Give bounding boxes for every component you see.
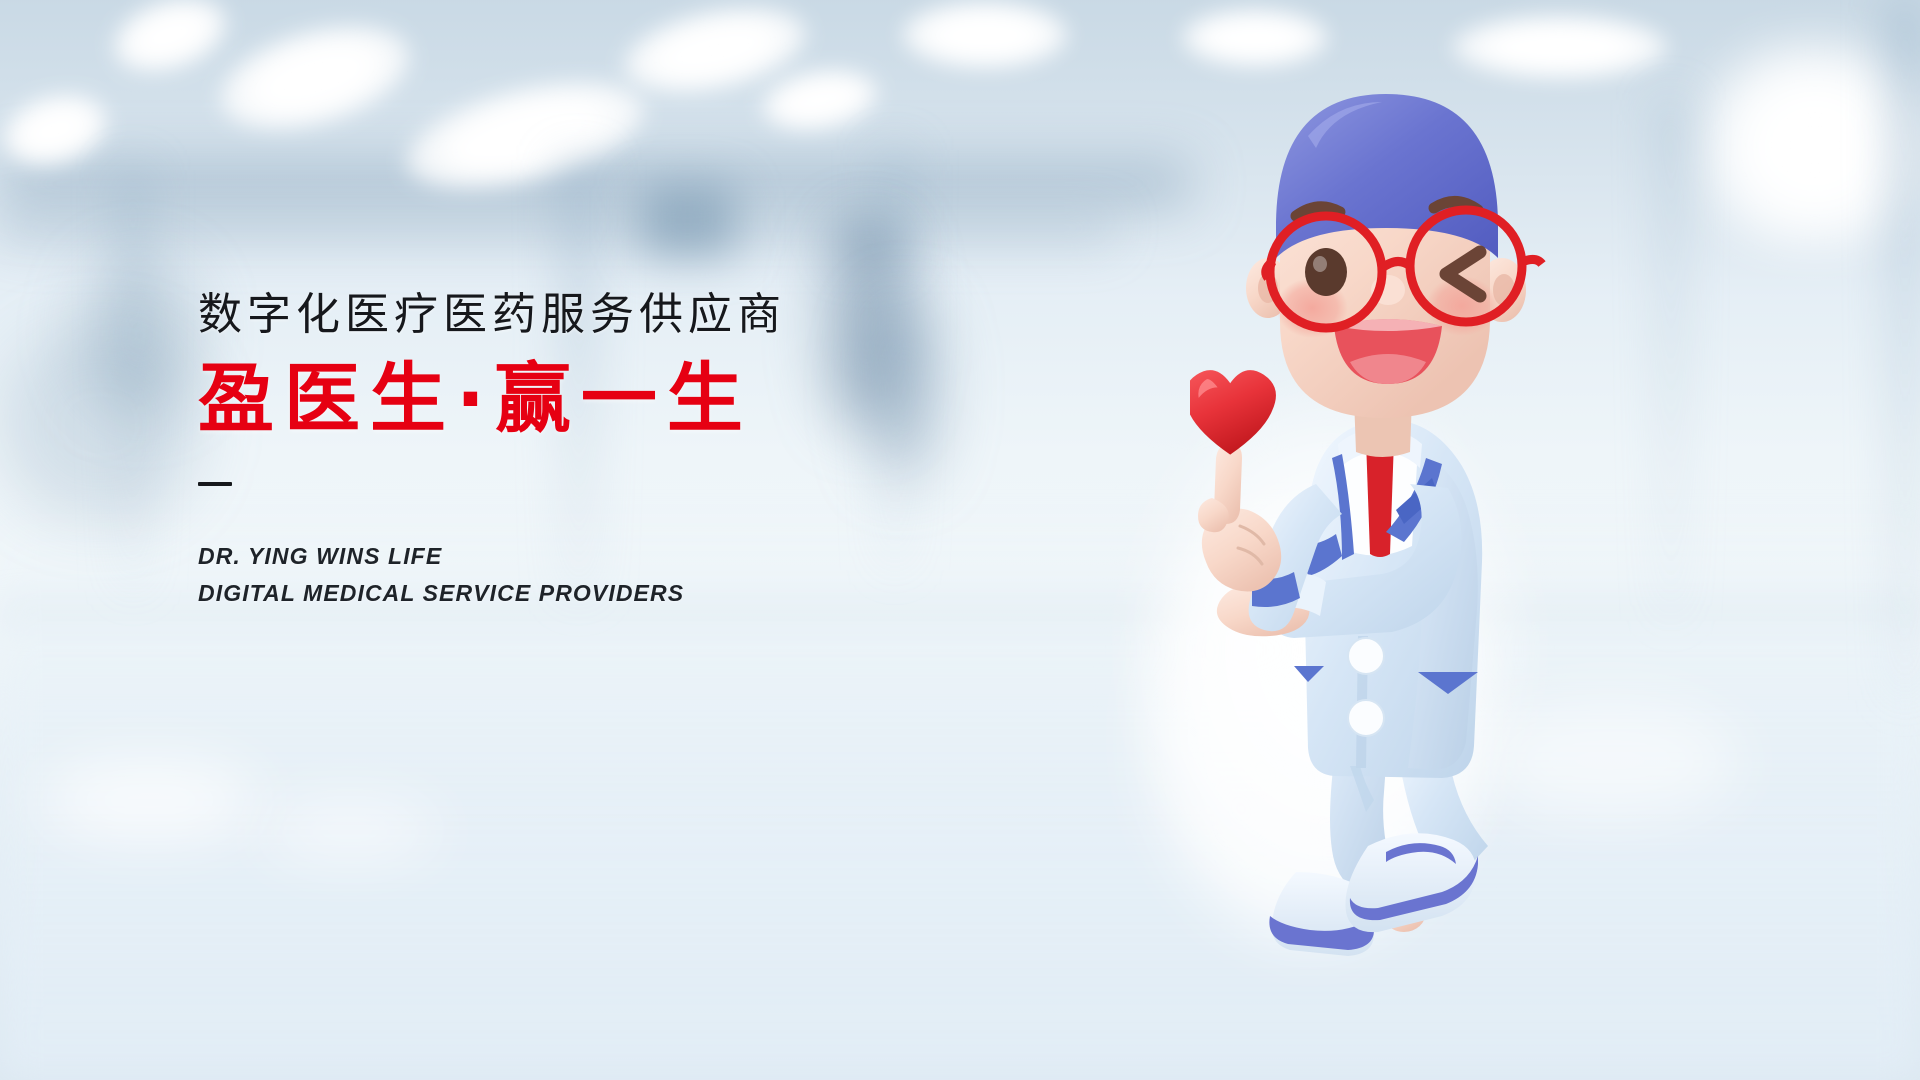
mascot-head	[1266, 94, 1542, 418]
background-partition	[1660, 100, 1682, 620]
floating-heart-icon	[1190, 370, 1276, 455]
background-ceiling-band-secondary	[0, 215, 1114, 255]
english-tagline: DR. YING WINS LIFE DIGITAL MEDICAL SERVI…	[198, 538, 1058, 613]
mascot-shoes	[1269, 833, 1478, 956]
ceiling-light-icon	[1700, 40, 1920, 250]
page-title: 盈医生·赢一生	[198, 357, 1058, 441]
ceiling-light-icon	[900, 0, 1070, 70]
background-person-silhouette	[0, 330, 200, 520]
background-partition	[1890, 0, 1920, 700]
mascot-finger-heart-hand	[1198, 442, 1281, 592]
background-screen	[640, 185, 735, 257]
english-tagline-line-2: DIGITAL MEDICAL SERVICE PROVIDERS	[198, 575, 1058, 612]
mascot-illustration	[1190, 40, 1620, 1050]
eye-open	[1305, 248, 1347, 296]
copy-block: 数字化医疗医药服务供应商 盈医生·赢一生 DR. YING WINS LIFE …	[198, 290, 1058, 613]
floor-highlight	[40, 760, 260, 840]
divider	[198, 482, 232, 486]
floor-highlight	[260, 800, 440, 860]
english-tagline-line-1: DR. YING WINS LIFE	[198, 538, 1058, 575]
doctor-mascot	[1190, 40, 1620, 1050]
subheadline: 数字化医疗医药服务供应商	[198, 290, 1058, 341]
banner-stage: 数字化医疗医药服务供应商 盈医生·赢一生 DR. YING WINS LIFE …	[0, 0, 1920, 1080]
